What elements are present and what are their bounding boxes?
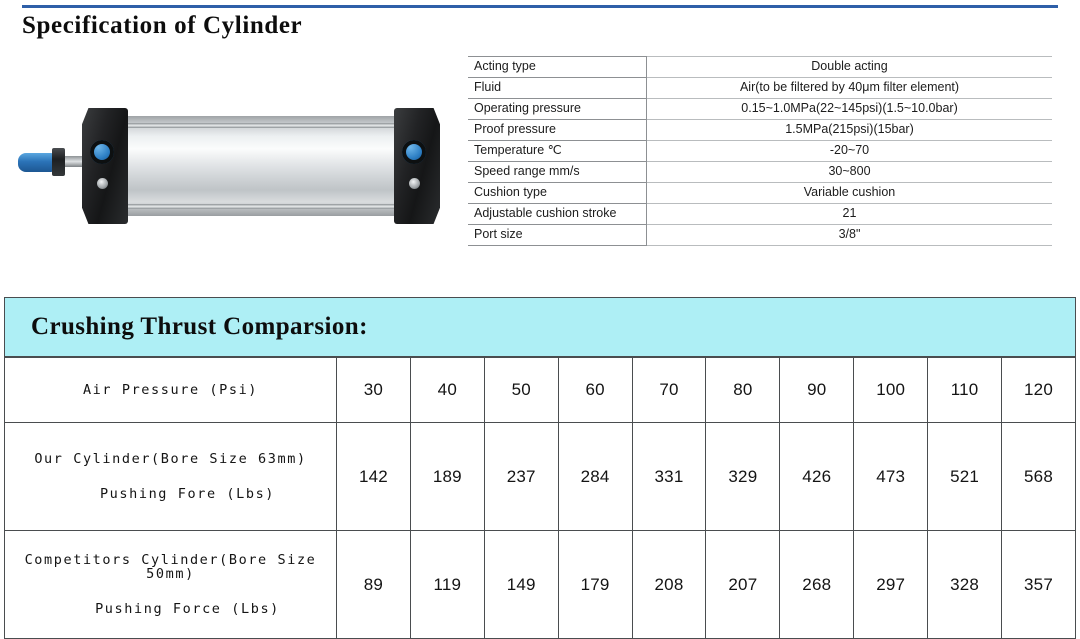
cell-comp-2: 149 bbox=[484, 531, 558, 639]
thrust-comparison-table: Air Pressure (Psi) 30 40 50 60 70 80 90 … bbox=[4, 357, 1076, 639]
mounting-hole-left bbox=[97, 178, 108, 189]
cell-pressure-0: 30 bbox=[337, 358, 411, 423]
tie-rod-top bbox=[106, 123, 416, 128]
row-label-air-pressure: Air Pressure (Psi) bbox=[5, 358, 337, 423]
cell-our-9: 568 bbox=[1002, 423, 1076, 531]
cell-comp-9: 357 bbox=[1002, 531, 1076, 639]
spec-value: Double acting bbox=[647, 57, 1053, 78]
spec-value: -20~70 bbox=[647, 141, 1053, 162]
cell-pressure-6: 90 bbox=[780, 358, 854, 423]
cell-comp-1: 119 bbox=[410, 531, 484, 639]
table-row: Proof pressure 1.5MPa(215psi)(15bar) bbox=[468, 120, 1052, 141]
cell-pressure-4: 70 bbox=[632, 358, 706, 423]
cell-pressure-2: 50 bbox=[484, 358, 558, 423]
cell-pressure-9: 120 bbox=[1002, 358, 1076, 423]
spec-value: 21 bbox=[647, 204, 1053, 225]
rod-cap-icon bbox=[18, 153, 54, 172]
cell-our-5: 329 bbox=[706, 423, 780, 531]
cell-comp-0: 89 bbox=[337, 531, 411, 639]
tie-rod-bottom bbox=[106, 204, 416, 209]
cell-our-7: 473 bbox=[854, 423, 928, 531]
cell-comp-3: 179 bbox=[558, 531, 632, 639]
our-label-line-1: Our Cylinder(Bore Size 63mm) bbox=[9, 452, 332, 466]
cell-our-3: 284 bbox=[558, 423, 632, 531]
spec-label: Temperature ℃ bbox=[468, 141, 647, 162]
end-cap-right bbox=[394, 108, 440, 224]
page-title: Specification of Cylinder bbox=[22, 12, 302, 40]
spec-label: Fluid bbox=[468, 78, 647, 99]
row-label-competitor-cylinder: Competitors Cylinder(Bore Size 50mm) Pus… bbox=[5, 531, 337, 639]
cell-pressure-5: 80 bbox=[706, 358, 780, 423]
spec-label: Acting type bbox=[468, 57, 647, 78]
table-row: Operating pressure 0.15~1.0MPa(22~145psi… bbox=[468, 99, 1052, 120]
spec-value: Variable cushion bbox=[647, 183, 1053, 204]
table-row: Port size 3/8" bbox=[468, 225, 1052, 246]
air-port-left-icon bbox=[90, 140, 114, 164]
spec-value: 30~800 bbox=[647, 162, 1053, 183]
cell-our-6: 426 bbox=[780, 423, 854, 531]
end-cap-left bbox=[82, 108, 128, 224]
cell-pressure-7: 100 bbox=[854, 358, 928, 423]
cell-comp-4: 208 bbox=[632, 531, 706, 639]
table-row: Cushion type Variable cushion bbox=[468, 183, 1052, 204]
cylinder-product-image bbox=[6, 96, 456, 236]
spec-label: Cushion type bbox=[468, 183, 647, 204]
air-port-right-icon bbox=[402, 140, 426, 164]
cell-comp-7: 297 bbox=[854, 531, 928, 639]
cylinder-barrel bbox=[106, 116, 416, 216]
spec-label: Proof pressure bbox=[468, 120, 647, 141]
spec-label: Speed range mm/s bbox=[468, 162, 647, 183]
rod-nut bbox=[52, 148, 65, 176]
table-row: Temperature ℃ -20~70 bbox=[468, 141, 1052, 162]
table-row: Speed range mm/s 30~800 bbox=[468, 162, 1052, 183]
spec-value: 1.5MPa(215psi)(15bar) bbox=[647, 120, 1053, 141]
table-row: Acting type Double acting bbox=[468, 57, 1052, 78]
table-row-air-pressure: Air Pressure (Psi) 30 40 50 60 70 80 90 … bbox=[5, 358, 1076, 423]
cell-pressure-1: 40 bbox=[410, 358, 484, 423]
thrust-comparison-section: Crushing Thrust Comparsion: Air Pressure… bbox=[4, 297, 1076, 639]
cell-comp-6: 268 bbox=[780, 531, 854, 639]
spec-label: Operating pressure bbox=[468, 99, 647, 120]
spec-label: Port size bbox=[468, 225, 647, 246]
comp-label-line-1: Competitors Cylinder(Bore Size 50mm) bbox=[9, 553, 332, 581]
spec-value: Air(to be filtered by 40μm filter elemen… bbox=[647, 78, 1053, 99]
cell-our-0: 142 bbox=[337, 423, 411, 531]
table-row-our-cylinder: Our Cylinder(Bore Size 63mm) Pushing For… bbox=[5, 423, 1076, 531]
comparison-header-band: Crushing Thrust Comparsion: bbox=[4, 297, 1076, 357]
our-label-line-2: Pushing Fore (Lbs) bbox=[9, 487, 332, 501]
specification-table: Acting type Double acting Fluid Air(to b… bbox=[468, 56, 1052, 246]
cell-our-8: 521 bbox=[928, 423, 1002, 531]
spec-value: 3/8" bbox=[647, 225, 1053, 246]
cell-our-4: 331 bbox=[632, 423, 706, 531]
cell-comp-5: 207 bbox=[706, 531, 780, 639]
spec-label: Adjustable cushion stroke bbox=[468, 204, 647, 225]
cell-our-2: 237 bbox=[484, 423, 558, 531]
row-label-our-cylinder: Our Cylinder(Bore Size 63mm) Pushing For… bbox=[5, 423, 337, 531]
table-row: Adjustable cushion stroke 21 bbox=[468, 204, 1052, 225]
top-divider-rule bbox=[22, 5, 1058, 8]
table-row-competitor-cylinder: Competitors Cylinder(Bore Size 50mm) Pus… bbox=[5, 531, 1076, 639]
table-row: Fluid Air(to be filtered by 40μm filter … bbox=[468, 78, 1052, 99]
comp-label-line-2: Pushing Force (Lbs) bbox=[9, 602, 332, 616]
comparison-title: Crushing Thrust Comparsion: bbox=[31, 313, 368, 341]
cell-comp-8: 328 bbox=[928, 531, 1002, 639]
cell-our-1: 189 bbox=[410, 423, 484, 531]
cell-pressure-3: 60 bbox=[558, 358, 632, 423]
mounting-hole-right bbox=[409, 178, 420, 189]
spec-value: 0.15~1.0MPa(22~145psi)(1.5~10.0bar) bbox=[647, 99, 1053, 120]
cell-pressure-8: 110 bbox=[928, 358, 1002, 423]
